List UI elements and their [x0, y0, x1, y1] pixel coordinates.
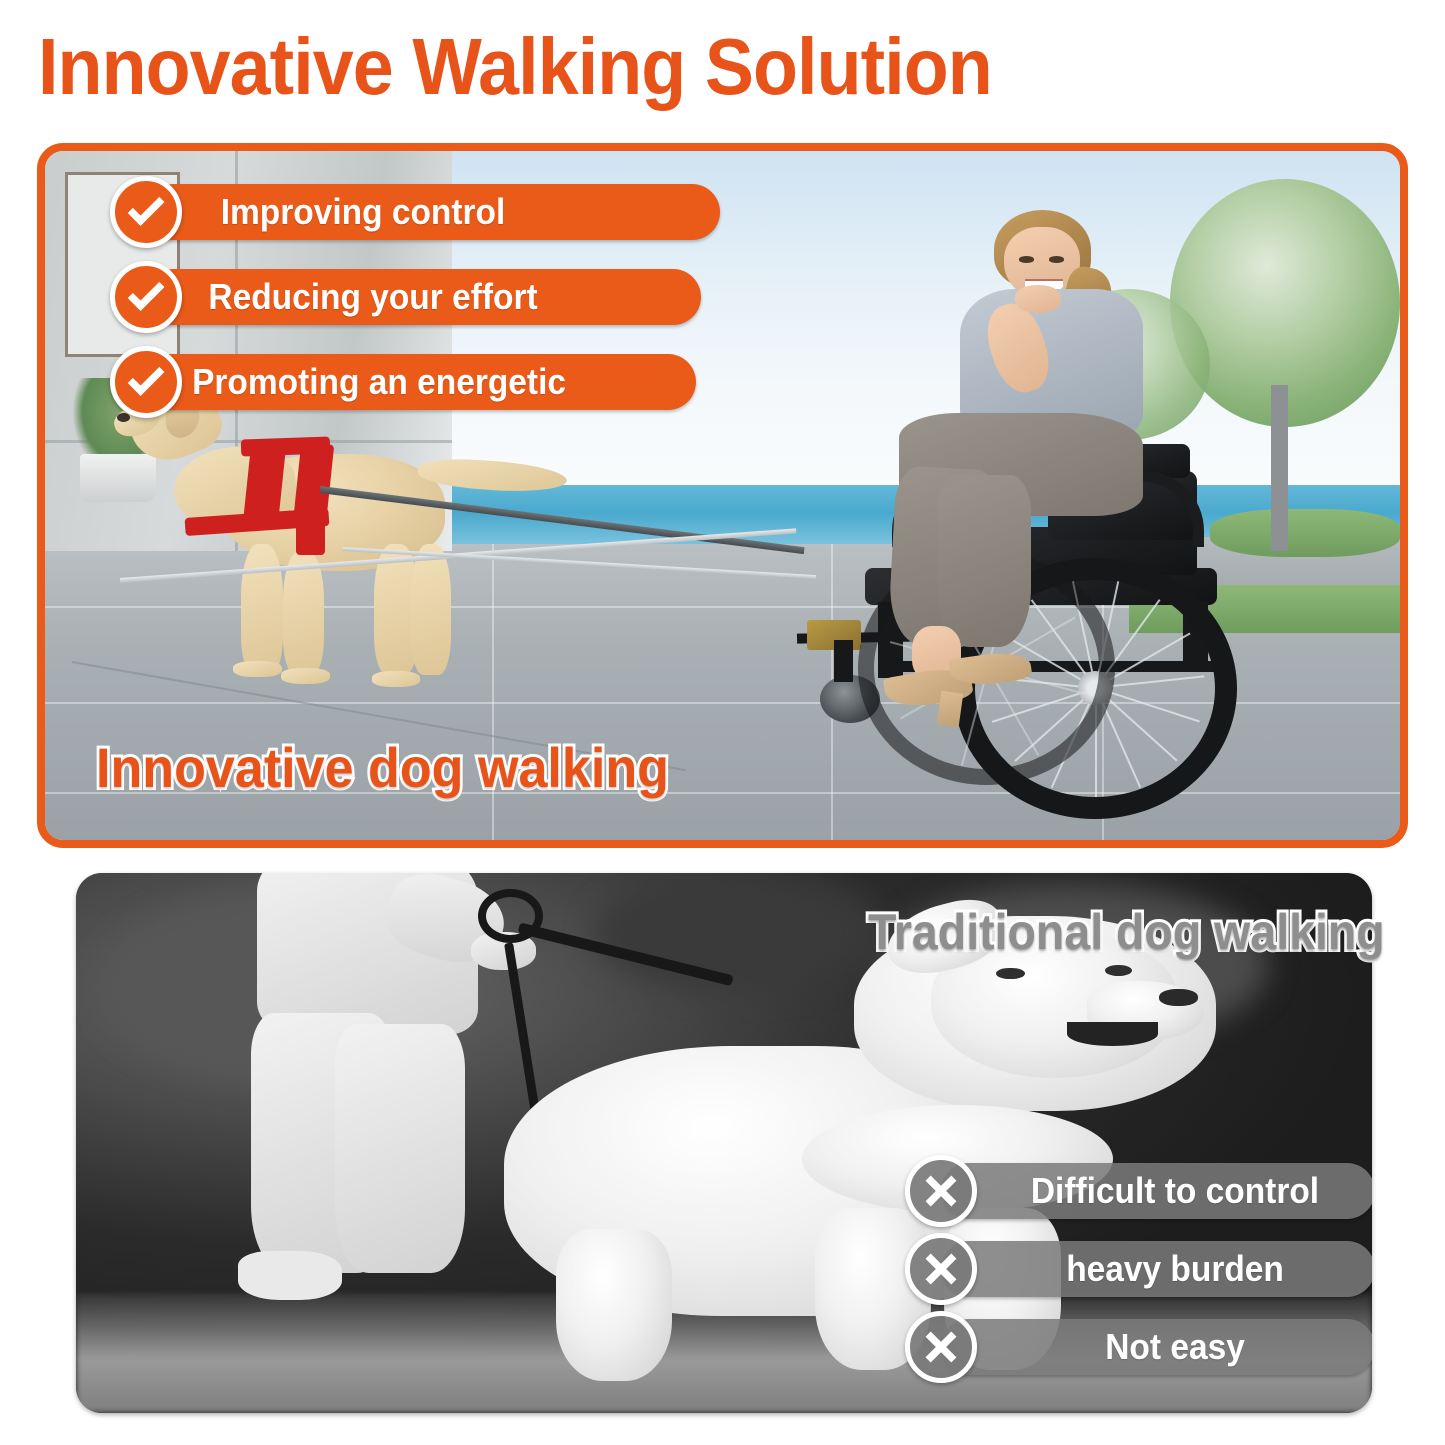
benefit-row-2: Reducing your effort [110, 269, 701, 325]
drawback-label-2: heavy burden [1066, 1248, 1284, 1290]
plant-pot [80, 454, 156, 502]
drawback-label-1: Difficult to control [1031, 1170, 1319, 1212]
benefit-pill-1: Improving control [146, 184, 720, 240]
benefit-row-1: Improving control [110, 184, 720, 240]
page-title: Innovative Walking Solution [38, 24, 1142, 114]
background-foliage [594, 873, 879, 992]
benefit-label-2: Reducing your effort [208, 276, 537, 318]
benefit-pill-3: Promoting an energetic [146, 354, 696, 410]
dog-leg [241, 544, 283, 675]
dog-leg [411, 544, 452, 675]
cross-icon [905, 1311, 977, 1383]
person-shoe [238, 1251, 342, 1300]
benefit-row-3: Promoting an energetic [110, 354, 696, 410]
innovative-caption: Innovative dog walking [96, 735, 669, 800]
drawback-pill-1: Difficult to control [941, 1163, 1372, 1219]
benefit-label-1: Improving control [221, 191, 506, 233]
benefit-label-3: Promoting an energetic [192, 361, 566, 403]
drawback-pill-2: heavy burden [941, 1241, 1372, 1297]
dog-harness-strap [296, 520, 326, 554]
check-icon [110, 346, 182, 418]
woman-eye [1019, 256, 1034, 262]
dog-eye [996, 968, 1025, 980]
dog-paw [372, 671, 421, 687]
cart-caster-fork [834, 640, 853, 681]
dog-mouth [1067, 1022, 1158, 1046]
benefit-pill-2: Reducing your effort [146, 269, 701, 325]
dog-paw [233, 661, 282, 678]
drawback-row-1: Difficult to control [905, 1163, 1372, 1219]
check-icon [110, 261, 182, 333]
dog-harness-strap [241, 436, 331, 456]
check-icon [110, 176, 182, 248]
tree-trunk [1271, 385, 1287, 550]
drawback-label-3: Not easy [1105, 1326, 1245, 1368]
drawback-row-3: Not easy [905, 1319, 1372, 1375]
dog-paw [281, 668, 330, 684]
drawback-pill-3: Not easy [941, 1319, 1372, 1375]
cross-icon [905, 1233, 977, 1305]
woman-pants-leg [937, 475, 1032, 647]
cross-icon [905, 1155, 977, 1227]
woman-eye [1049, 256, 1064, 262]
dog-leg [556, 1229, 673, 1380]
grass-verge [1210, 509, 1400, 557]
drawback-row-2: heavy burden [905, 1241, 1372, 1297]
woman-hand [1015, 285, 1061, 313]
traditional-caption: Traditional dog walking [868, 903, 1385, 961]
dog-nose [1159, 989, 1198, 1006]
person-leg [335, 1024, 465, 1272]
